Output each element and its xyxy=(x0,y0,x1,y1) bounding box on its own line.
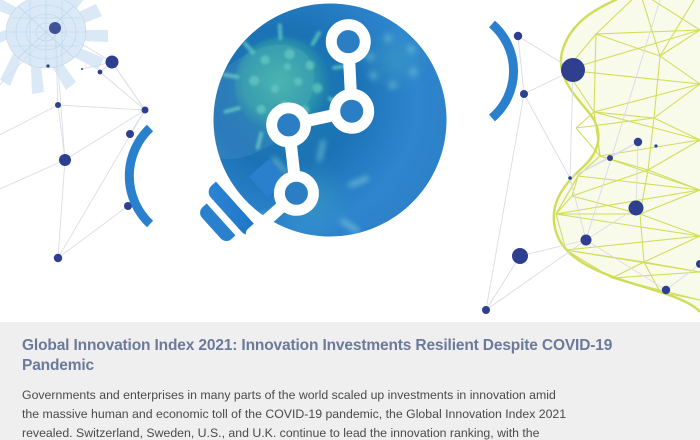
page-root: Global Innovation Index 2021: Innovation… xyxy=(0,0,700,440)
article-body: Governments and enterprises in many part… xyxy=(22,386,678,440)
hero-illustration xyxy=(0,0,700,322)
article-body-line-2: the massive human and economic toll of t… xyxy=(22,405,678,424)
network-node xyxy=(49,22,61,34)
hero-banner xyxy=(0,0,700,322)
article-title[interactable]: Global Innovation Index 2021: Innovation… xyxy=(22,336,678,376)
article-body-line-3: revealed. Switzerland, Sweden, U.S., and… xyxy=(22,424,678,440)
article-card: Global Innovation Index 2021: Innovation… xyxy=(0,322,700,440)
article-body-line-1: Governments and enterprises in many part… xyxy=(22,386,678,405)
